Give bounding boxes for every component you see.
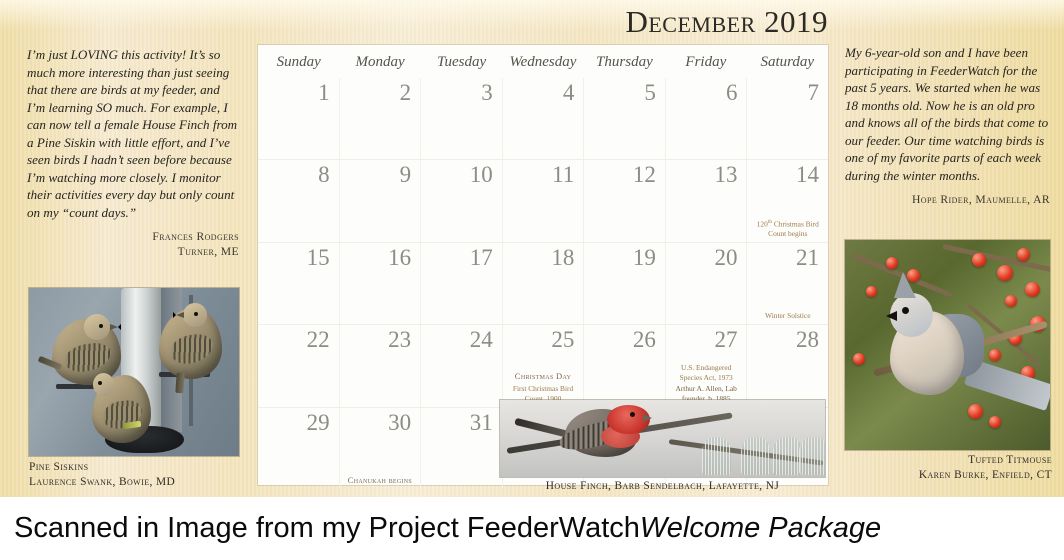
calendar-day-cell[interactable]: 23	[339, 325, 421, 406]
quote-right-attribution: Hope Rider, Maumelle, AR	[845, 193, 1050, 207]
calendar-day-cell[interactable]: 5	[583, 78, 665, 159]
calendar-day-number: 11	[552, 162, 574, 188]
calendar-day-cell[interactable]: 11	[502, 160, 584, 241]
weekday-thursday: Thursday	[584, 45, 665, 78]
calendar-day-cell[interactable]: 15	[258, 243, 339, 324]
calendar-day-cell[interactable]: 10	[420, 160, 502, 241]
caption-tufted-titmouse: Tufted Titmouse Karen Burke, Enfield, CT	[840, 453, 1052, 483]
caption-pine-siskins-title: Pine Siskins	[29, 460, 289, 475]
calendar-day-number: 12	[633, 162, 656, 188]
calendar-day-number: 9	[400, 162, 412, 188]
calendar-day-number: 3	[481, 80, 493, 106]
calendar-day-number: 6	[726, 80, 738, 106]
paper-top-fade	[0, 0, 1064, 30]
quote-right-author: Hope Rider, Maumelle, AR	[845, 193, 1050, 207]
scan-caption-bar: Scanned in Image from my Project FeederW…	[0, 497, 1064, 560]
calendar-day-cell[interactable]: 18	[502, 243, 584, 324]
calendar-day-number: 5	[644, 80, 656, 106]
calendar-day-cell[interactable]: 6	[665, 78, 747, 159]
calendar-week-row: 891011121314120th Christmas Bird Count b…	[258, 159, 828, 241]
caption-tufted-titmouse-credit: Karen Burke, Enfield, CT	[840, 468, 1052, 483]
calendar-day-note: Winter Solstice	[751, 311, 824, 321]
calendar-day-number: 29	[307, 410, 330, 436]
quote-right-text: My 6-year-old son and I have been partic…	[845, 44, 1050, 184]
weekday-wednesday: Wednesday	[502, 45, 583, 78]
photo-house-finch	[500, 400, 825, 477]
calendar-day-note: U.S. Endangered Species Act, 1973	[670, 363, 743, 383]
calendar-day-number: 14	[796, 162, 819, 188]
calendar-day-number: 25	[551, 327, 574, 353]
calendar-day-number: 15	[307, 245, 330, 271]
calendar-day-number: 19	[633, 245, 656, 271]
quote-left-location: Turner, ME	[27, 245, 239, 259]
calendar-week-row: 22232425First Christmas Bird Count, 1900…	[258, 324, 828, 406]
calendar-week-row: 15161718192021Winter Solstice	[258, 242, 828, 324]
calendar-day-cell[interactable]: 30Chanukah begins	[339, 408, 421, 489]
calendar-day-number: 22	[307, 327, 330, 353]
calendar-day-cell[interactable]: 4	[502, 78, 584, 159]
caption-pine-siskins-credit: Laurence Swank, Bowie, MD	[29, 475, 289, 490]
scan-caption-italic: Welcome Package	[640, 512, 881, 545]
calendar-day-number: 1	[318, 80, 330, 106]
quote-left: I’m just LOVING this activity! It’s so m…	[27, 46, 239, 259]
calendar-day-note: 120th Christmas Bird Count begins	[751, 219, 824, 239]
calendar-day-number: 18	[551, 245, 574, 271]
calendar-day-cell[interactable]: 21Winter Solstice	[746, 243, 828, 324]
calendar-day-cell[interactable]: 31	[420, 408, 502, 489]
calendar-day-note: Christmas Day	[507, 371, 580, 382]
calendar-day-number: 7	[808, 80, 820, 106]
calendar-day-cell[interactable]: 20	[665, 243, 747, 324]
calendar-day-number: 24	[470, 327, 493, 353]
calendar-day-number: 8	[318, 162, 330, 188]
weekday-header-row: Sunday Monday Tuesday Wednesday Thursday…	[258, 45, 828, 78]
calendar-day-number: 23	[388, 327, 411, 353]
calendar-day-number: 4	[563, 80, 575, 106]
calendar-day-cell[interactable]: 7	[746, 78, 828, 159]
calendar-day-cell[interactable]: 1	[258, 78, 339, 159]
calendar-day-number: 16	[388, 245, 411, 271]
quote-right: My 6-year-old son and I have been partic…	[845, 44, 1050, 208]
calendar-day-cell[interactable]: 8	[258, 160, 339, 241]
calendar-day-cell[interactable]: 13	[665, 160, 747, 241]
calendar-day-cell[interactable]: 2	[339, 78, 421, 159]
calendar-day-number: 20	[714, 245, 737, 271]
calendar-day-cell[interactable]: 24	[420, 325, 502, 406]
calendar-day-cell[interactable]: 26	[583, 325, 665, 406]
photo-tufted-titmouse	[845, 240, 1050, 450]
weekday-monday: Monday	[339, 45, 420, 78]
weekday-tuesday: Tuesday	[421, 45, 502, 78]
calendar-day-cell[interactable]: 25First Christmas Bird Count, 1900Christ…	[502, 325, 584, 406]
calendar-day-number: 26	[633, 327, 656, 353]
calendar-day-number: 27	[714, 327, 737, 353]
scan-caption-prefix: Scanned in Image from my Project FeederW…	[14, 512, 640, 545]
calendar-day-note: Chanukah begins	[344, 475, 417, 486]
calendar-day-cell[interactable]: 12	[583, 160, 665, 241]
calendar-day-cell[interactable]: 19	[583, 243, 665, 324]
caption-pine-siskins: Pine Siskins Laurence Swank, Bowie, MD	[29, 460, 289, 490]
calendar-page: December 2019 I’m just LOVING this activ…	[0, 0, 1064, 560]
calendar-day-cell[interactable]: 28	[746, 325, 828, 406]
page-title: December 2019	[560, 4, 860, 44]
calendar-day-number: 21	[796, 245, 819, 271]
calendar-day-number: 2	[400, 80, 412, 106]
quote-left-text: I’m just LOVING this activity! It’s so m…	[27, 46, 239, 221]
photo-pine-siskins	[29, 288, 239, 456]
calendar-day-cell[interactable]: 3	[420, 78, 502, 159]
calendar-day-cell[interactable]: 17	[420, 243, 502, 324]
calendar-day-cell[interactable]: 14120th Christmas Bird Count begins	[746, 160, 828, 241]
calendar-day-number: 30	[388, 410, 411, 436]
calendar-day-number: 17	[470, 245, 493, 271]
calendar-day-cell[interactable]: 27Arthur A. Allen, Lab founder, b. 1885U…	[665, 325, 747, 406]
calendar-day-number: 10	[470, 162, 493, 188]
weekday-saturday: Saturday	[747, 45, 828, 78]
calendar-day-number: 13	[714, 162, 737, 188]
calendar-day-number: 31	[470, 410, 493, 436]
calendar-day-cell[interactable]: 22	[258, 325, 339, 406]
calendar-day-cell[interactable]: 16	[339, 243, 421, 324]
caption-house-finch: House Finch, Barb Sendelbach, Lafayette,…	[500, 479, 825, 494]
calendar-week-row: 1234567	[258, 78, 828, 159]
calendar-day-cell[interactable]: 9	[339, 160, 421, 241]
caption-tufted-titmouse-title: Tufted Titmouse	[840, 453, 1052, 468]
weekday-sunday: Sunday	[258, 45, 339, 78]
quote-left-attribution: Frances Rodgers Turner, ME	[27, 230, 239, 259]
quote-left-author: Frances Rodgers	[27, 230, 239, 244]
calendar-day-number: 28	[796, 327, 819, 353]
weekday-friday: Friday	[665, 45, 746, 78]
